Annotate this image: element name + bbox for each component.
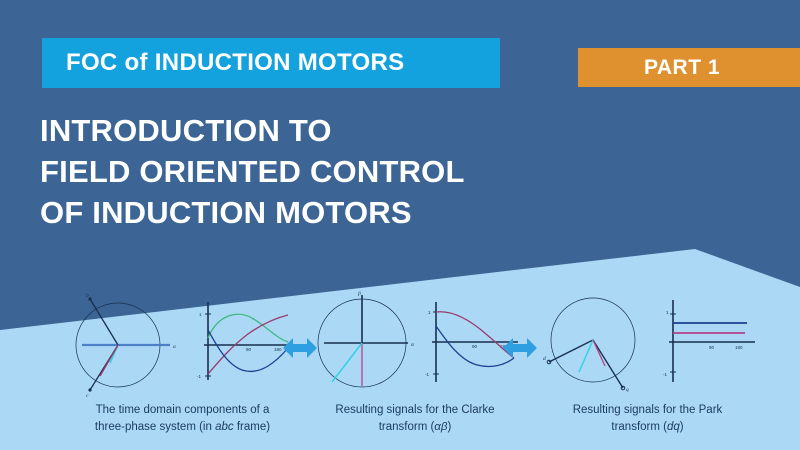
title-line-2: FIELD ORIENTED CONTROL <box>40 151 560 192</box>
caption-abc-line2-pre: three-phase system (in <box>95 421 215 433</box>
abc-xtick-180: 180 <box>274 347 282 352</box>
clarke-vector-diagram: β α <box>318 291 414 387</box>
abc-axis-label-a: a <box>173 344 176 350</box>
park-ytick-neg1: -1 <box>663 372 667 377</box>
double-arrow-icon <box>503 335 537 361</box>
clarke-ytick-neg1: -1 <box>425 372 429 377</box>
topic-banner: FOC of INDUCTION MOTORS <box>42 38 500 88</box>
transform-diagram-strip: a b c 1 -1 90 180 <box>0 290 800 450</box>
park-axis-label-d: d <box>543 356 546 362</box>
abc-figures: a b c 1 -1 90 180 <box>60 290 305 400</box>
abc-waveform-chart: 1 -1 90 180 <box>197 302 292 380</box>
part-badge-label: PART 1 <box>644 56 742 80</box>
park-axis-label-q: q <box>626 387 629 393</box>
clarke-xtick-90: 90 <box>472 344 478 349</box>
abc-vector-diagram: a b c <box>76 293 176 399</box>
clarke-figures: β α 1 -1 90 180 <box>310 290 520 400</box>
diagram-group-park: d q 1 -1 90 180 <box>535 290 760 450</box>
caption-clarke-line2-post: ) <box>447 421 451 433</box>
page-title: INTRODUCTION TO FIELD ORIENTED CONTROL O… <box>40 110 560 234</box>
caption-clarke-line1: Resulting signals for the Clarke <box>335 404 494 416</box>
park-figures: d q 1 -1 90 180 <box>535 290 760 400</box>
clarke-axis-label-alpha: α <box>411 342 414 348</box>
clarke-axis-label-beta: β <box>357 291 361 297</box>
park-xtick-180: 180 <box>735 345 743 350</box>
park-vector-diagram: d q <box>543 298 635 393</box>
caption-clarke-line2-italic: αβ <box>434 421 447 433</box>
caption-park-line2-post: ) <box>680 421 684 433</box>
caption-park-line1: Resulting signals for the Park <box>573 404 723 416</box>
title-line-1: INTRODUCTION TO <box>40 110 560 151</box>
abc-ytick-1: 1 <box>199 312 202 317</box>
caption-abc-line1: The time domain components of a <box>96 404 270 416</box>
abc-axis-label-c: c <box>86 393 89 399</box>
caption-park-line2-italic: dq <box>667 421 680 433</box>
caption-park: Resulting signals for the Park transform… <box>535 402 760 435</box>
park-xtick-90: 90 <box>709 345 715 350</box>
caption-park-line2-pre: transform ( <box>611 421 667 433</box>
abc-ytick-neg1: -1 <box>197 374 201 379</box>
caption-abc-line2-post: frame) <box>234 421 270 433</box>
clarke-ytick-1: 1 <box>428 310 431 315</box>
caption-abc: The time domain components of a three-ph… <box>60 402 305 435</box>
diagram-group-abc: a b c 1 -1 90 180 <box>60 290 305 450</box>
abc-xtick-90: 90 <box>246 347 252 352</box>
caption-abc-line2-italic: abc <box>215 421 234 433</box>
topic-banner-label: FOC of INDUCTION MOTORS <box>42 49 404 77</box>
part-badge: PART 1 <box>578 48 800 87</box>
abc-axis-label-b: b <box>86 293 89 299</box>
park-waveform-chart: 1 -1 90 180 <box>663 300 755 382</box>
caption-clarke: Resulting signals for the Clarke transfo… <box>310 402 520 435</box>
caption-clarke-line2-pre: transform ( <box>379 421 435 433</box>
slide-canvas: FOC of INDUCTION MOTORS PART 1 INTRODUCT… <box>0 0 800 450</box>
title-line-3: OF INDUCTION MOTORS <box>40 192 560 233</box>
park-ytick-1: 1 <box>666 310 669 315</box>
diagram-group-clarke: β α 1 -1 90 180 <box>310 290 520 450</box>
